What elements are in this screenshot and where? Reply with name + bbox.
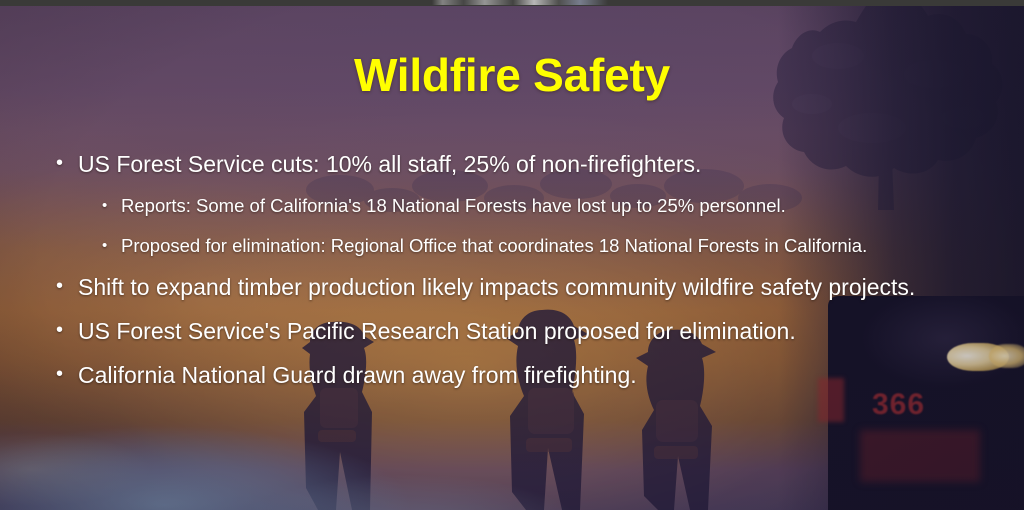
bullet-text: US Forest Service cuts: 10% all staff, 2… bbox=[78, 150, 968, 180]
bullet-item: • Proposed for elimination: Regional Off… bbox=[102, 234, 968, 258]
bullet-item: • Shift to expand timber production like… bbox=[56, 273, 968, 303]
bullet-text: Reports: Some of California's 18 Nationa… bbox=[121, 194, 968, 218]
bullet-marker-icon: • bbox=[102, 194, 121, 213]
bullet-marker-icon: • bbox=[56, 361, 78, 384]
slide-content: Wildfire Safety • US Forest Service cuts… bbox=[0, 0, 1024, 510]
top-window-strip bbox=[0, 0, 1024, 6]
bullet-text: California National Guard drawn away fro… bbox=[78, 361, 968, 391]
bullet-item: • US Forest Service's Pacific Research S… bbox=[56, 317, 968, 347]
bullet-item: • California National Guard drawn away f… bbox=[56, 361, 968, 391]
bullet-text: Proposed for elimination: Regional Offic… bbox=[121, 234, 968, 258]
bullet-list: • US Forest Service cuts: 10% all staff,… bbox=[56, 150, 968, 405]
bullet-marker-icon: • bbox=[56, 317, 78, 340]
bullet-item: • Reports: Some of California's 18 Natio… bbox=[102, 194, 968, 218]
top-strip-marks bbox=[432, 0, 608, 5]
presentation-slide: 366 bbox=[0, 0, 1024, 510]
bullet-marker-icon: • bbox=[56, 273, 78, 296]
bullet-text: Shift to expand timber production likely… bbox=[78, 273, 968, 303]
bullet-marker-icon: • bbox=[102, 234, 121, 253]
bullet-text: US Forest Service's Pacific Research Sta… bbox=[78, 317, 968, 347]
bullet-marker-icon: • bbox=[56, 150, 78, 173]
bullet-item: • US Forest Service cuts: 10% all staff,… bbox=[56, 150, 968, 180]
slide-title: Wildfire Safety bbox=[0, 50, 1024, 101]
